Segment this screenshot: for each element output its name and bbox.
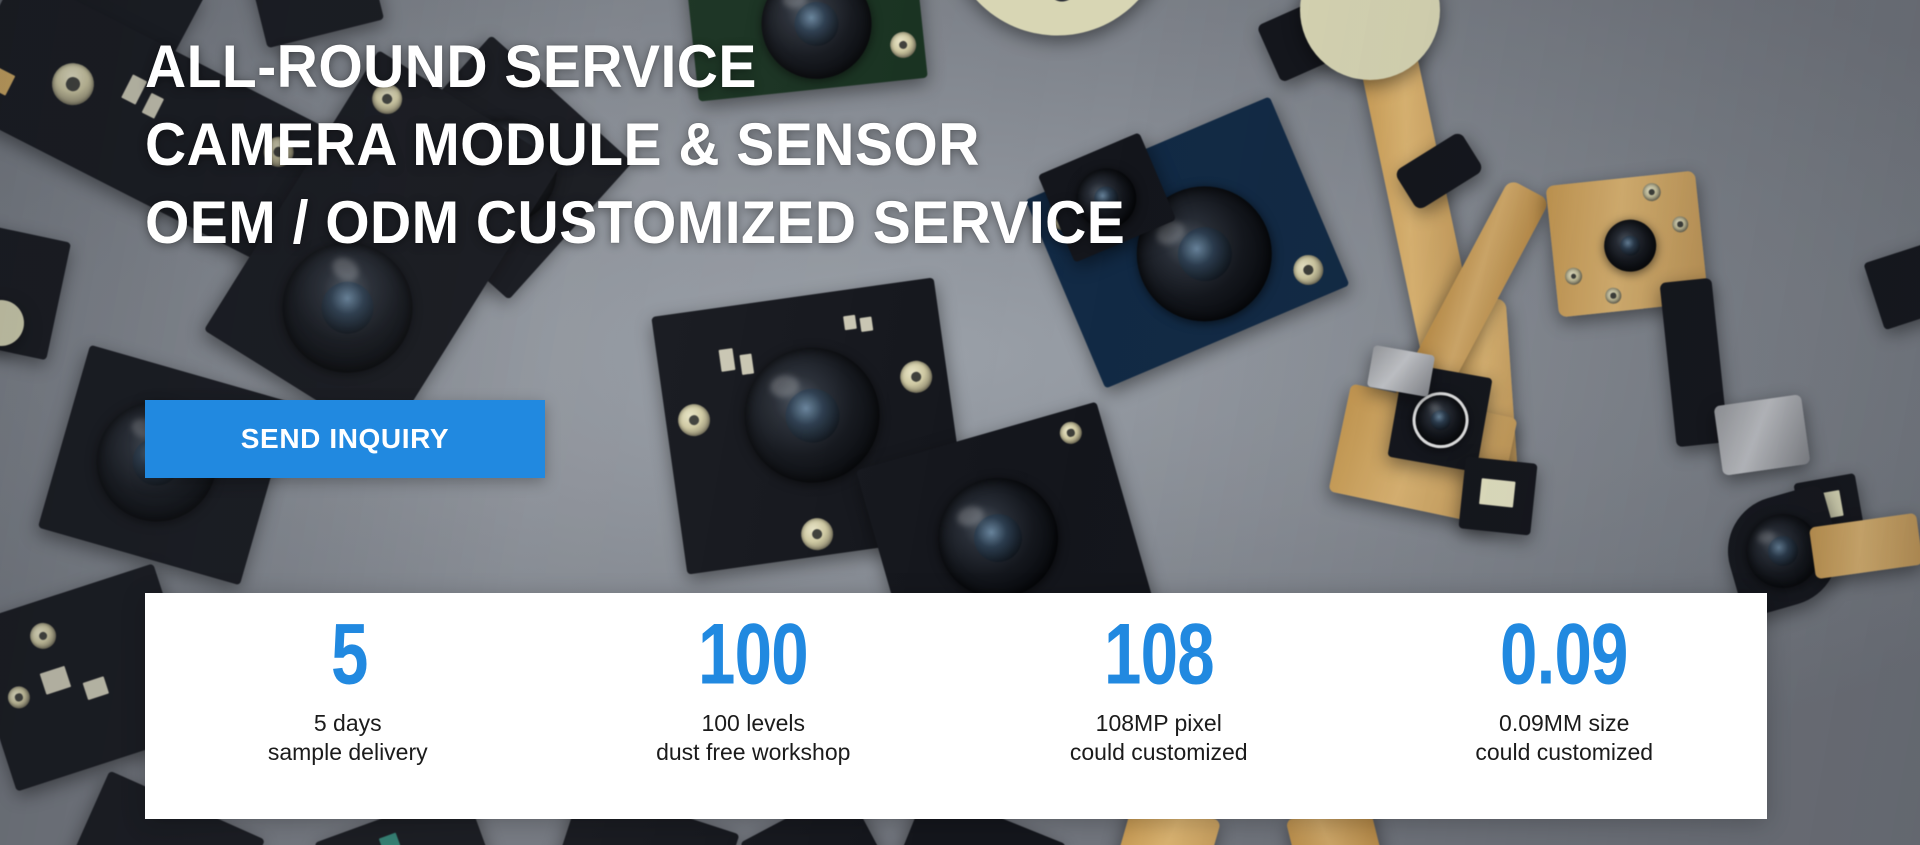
stat-description: 108MP pixel could customized bbox=[1070, 709, 1248, 767]
headline-line-1: ALL-ROUND SERVICE bbox=[145, 28, 1125, 106]
stat-desc-line-2: could customized bbox=[1475, 738, 1653, 767]
stat-desc-line-1: 5 days bbox=[314, 710, 382, 736]
metal-connector bbox=[1714, 394, 1811, 476]
stat-number: 108 bbox=[1104, 609, 1214, 701]
stat-number: 0.09 bbox=[1500, 609, 1628, 701]
stat-desc-line-2: could customized bbox=[1070, 738, 1248, 767]
led-module bbox=[1458, 456, 1537, 535]
stat-number: 5 bbox=[331, 609, 368, 701]
stat-description: 5 days sample delivery bbox=[268, 709, 428, 767]
headline-line-3: OEM / ODM CUSTOMIZED SERVICE bbox=[145, 184, 1125, 262]
stats-panel: 5 5 days sample delivery 100 100 levels … bbox=[145, 593, 1767, 819]
stat-number: 100 bbox=[698, 609, 808, 701]
stat-desc-line-1: 0.09MM size bbox=[1499, 710, 1629, 736]
stat-description: 100 levels dust free workshop bbox=[656, 709, 850, 767]
stat-desc-line-2: dust free workshop bbox=[656, 738, 850, 767]
stat-desc-line-1: 108MP pixel bbox=[1096, 710, 1222, 736]
stat-item: 0.09 0.09MM size could customized bbox=[1362, 593, 1768, 767]
stat-item: 108 108MP pixel could customized bbox=[956, 593, 1362, 767]
pcb-board bbox=[1863, 236, 1920, 330]
stat-desc-line-2: sample delivery bbox=[268, 738, 428, 767]
stat-item: 100 100 levels dust free workshop bbox=[551, 593, 957, 767]
stat-desc-line-1: 100 levels bbox=[701, 710, 805, 736]
hero-banner: ALL-ROUND SERVICE CAMERA MODULE & SENSOR… bbox=[0, 0, 1920, 845]
send-inquiry-button[interactable]: SEND INQUIRY bbox=[145, 400, 545, 478]
hero-headline: ALL-ROUND SERVICE CAMERA MODULE & SENSOR… bbox=[145, 28, 1177, 262]
stat-item: 5 5 days sample delivery bbox=[145, 593, 551, 767]
stat-description: 0.09MM size could customized bbox=[1475, 709, 1653, 767]
headline-line-2: CAMERA MODULE & SENSOR bbox=[145, 106, 1125, 184]
